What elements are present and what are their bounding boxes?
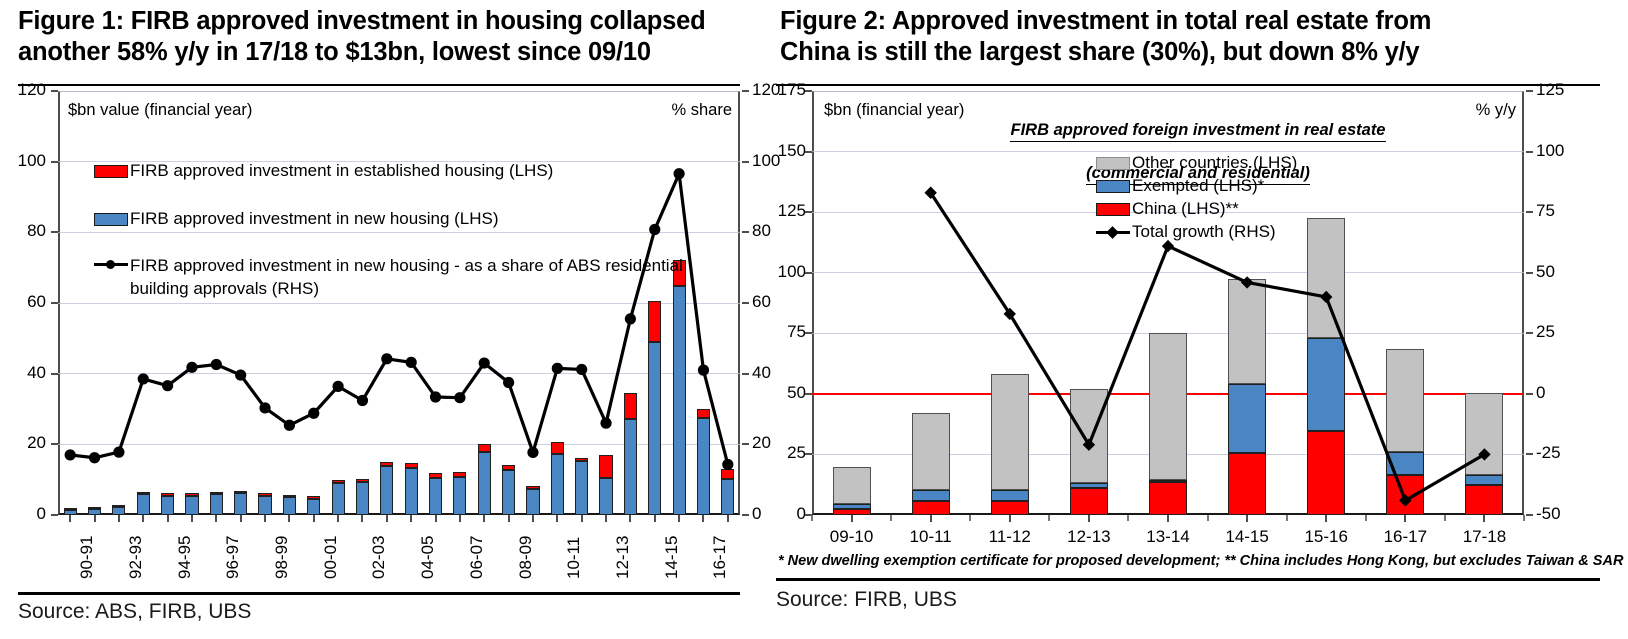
x-axis-label: 12-13 [1049, 527, 1129, 547]
y-tick-label-left: 0 [768, 504, 806, 524]
x-tick-mark [69, 515, 71, 522]
y-tick-label-left: 75 [768, 322, 806, 342]
y-tick-mark-right [742, 514, 749, 516]
figure-2-title: Figure 2: Approved investment in total r… [780, 6, 1610, 68]
x-tick-mark [508, 515, 510, 522]
figure-1-legend-item-0: FIRB approved investment in established … [94, 161, 553, 181]
y-tick-mark-left [51, 231, 58, 233]
figure-1-line-series [58, 91, 740, 515]
y-tick-mark-right [742, 161, 749, 163]
y-tick-mark-right [1526, 151, 1533, 153]
figure-1-legend-item-1: FIRB approved investment in new housing … [94, 209, 499, 229]
y-tick-label-right: 50 [1536, 262, 1555, 282]
x-axis-label: 09-10 [812, 527, 892, 547]
x-tick-mark [264, 515, 266, 522]
x-axis-label: 96-97 [223, 536, 243, 579]
x-tick-mark [483, 515, 485, 522]
x-tick-mark [605, 515, 607, 522]
y-tick-mark-left [805, 453, 812, 455]
x-axis-label: 00-01 [321, 536, 341, 579]
figure-1-source-rule [18, 592, 740, 595]
y-tick-mark-right [742, 302, 749, 304]
x-tick-mark [240, 515, 242, 522]
figure-2-right-axis-note: % y/y [1476, 101, 1516, 120]
figure-2-legend-item-3: Total growth (RHS) [1096, 222, 1276, 242]
y-tick-mark-left [51, 161, 58, 163]
x-minor-tick-mark [1365, 515, 1367, 521]
y-tick-label-left: 100 [0, 151, 46, 171]
legend-line-new-housing-share-icon [94, 257, 128, 271]
y-tick-mark-left [51, 514, 58, 516]
y-tick-mark-left [51, 90, 58, 92]
x-axis-label: 14-15 [1207, 527, 1287, 547]
x-minor-tick-mark [1444, 515, 1446, 521]
figure-1-legend-item-2: FIRB approved investment in new housing … [94, 254, 683, 300]
figure-2-footnote: * New dwelling exemption certificate for… [778, 553, 1623, 569]
y-tick-label-right: -25 [1536, 443, 1561, 463]
x-axis-label: 94-95 [175, 536, 195, 579]
figure-1-source: Source: ABS, FIRB, UBS [18, 600, 251, 624]
y-tick-label-right: 125 [1536, 80, 1564, 100]
figure-2-source: Source: FIRB, UBS [776, 588, 957, 612]
y-tick-mark-right [1526, 514, 1533, 516]
figure-2-plot: $bn (financial year) % y/y FIRB approved… [812, 91, 1524, 515]
y-tick-mark-right [1526, 332, 1533, 334]
figure-2-legend-item-0: Other countries (LHS) [1096, 153, 1297, 173]
x-tick-mark [337, 515, 339, 522]
y-tick-label-right: 25 [1536, 322, 1555, 342]
y-tick-mark-left [805, 332, 812, 334]
y-tick-mark-left [51, 302, 58, 304]
y-tick-label-right: 0 [752, 504, 761, 524]
y-tick-mark-right [742, 373, 749, 375]
x-tick-mark [167, 515, 169, 522]
x-minor-tick-mark [969, 515, 971, 521]
y-tick-mark-left [51, 443, 58, 445]
y-tick-mark-right [1526, 90, 1533, 92]
x-tick-mark [1404, 515, 1406, 522]
y-tick-label-left: 150 [768, 141, 806, 161]
x-axis-label: 10-11 [891, 527, 971, 547]
legend-swatch-other-countries [1096, 157, 1130, 170]
y-tick-label-right: -50 [1536, 504, 1561, 524]
figure-2-legend-label-0: Other countries (LHS) [1132, 153, 1297, 173]
x-tick-mark [361, 515, 363, 522]
y-tick-label-left: 100 [768, 262, 806, 282]
x-tick-mark [1088, 515, 1090, 522]
x-tick-mark [678, 515, 680, 522]
y-tick-mark-left [805, 393, 812, 395]
y-tick-mark-left [805, 272, 812, 274]
x-tick-mark [386, 515, 388, 522]
y-tick-label-left: 40 [0, 363, 46, 383]
figure-1-panel: Figure 1: FIRB approved investment in ho… [0, 0, 768, 639]
y-tick-label-left: 20 [0, 433, 46, 453]
y-tick-mark-right [1526, 453, 1533, 455]
legend-swatch-new-housing [94, 213, 128, 226]
figure-1-legend-label-0: FIRB approved investment in established … [130, 161, 553, 181]
x-axis-label: 04-05 [418, 536, 438, 579]
x-tick-mark [851, 515, 853, 522]
x-axis-label: 98-99 [272, 536, 292, 579]
x-tick-mark [1483, 515, 1485, 522]
x-tick-mark [727, 515, 729, 522]
y-tick-mark-right [1526, 211, 1533, 213]
y-tick-mark-right [1526, 393, 1533, 395]
legend-swatch-china [1096, 203, 1130, 216]
x-axis-label: 92-93 [126, 536, 146, 579]
y-tick-label-left: 175 [768, 80, 806, 100]
figure-2-source-rule [776, 578, 1600, 581]
x-tick-mark [654, 515, 656, 522]
figure-1-plot: $bn value (financial year) % share FIRB … [58, 91, 740, 515]
x-minor-tick-mark [1523, 515, 1525, 521]
x-minor-tick-mark [811, 515, 813, 521]
y-tick-mark-left [805, 211, 812, 213]
y-tick-label-left: 50 [768, 383, 806, 403]
y-tick-mark-right [742, 443, 749, 445]
figure-2-legend-item-2: China (LHS)** [1096, 199, 1239, 219]
y-tick-label-left: 0 [0, 504, 46, 524]
x-minor-tick-mark [1127, 515, 1129, 521]
x-tick-mark [215, 515, 217, 522]
x-tick-mark [1009, 515, 1011, 522]
x-axis-label: 16-17 [710, 536, 730, 579]
figure-1-legend-label-2: FIRB approved investment in new housing … [130, 254, 683, 300]
x-tick-mark [532, 515, 534, 522]
legend-swatch-exempted [1096, 180, 1130, 193]
x-tick-mark [629, 515, 631, 522]
legend-line-total-growth-icon [1096, 225, 1130, 239]
x-axis-label: 02-03 [369, 536, 389, 579]
figure-2-left-axis-note: $bn (financial year) [824, 101, 964, 120]
y-tick-label-left: 80 [0, 221, 46, 241]
figure-2-box-title-line1: FIRB approved foreign investment in real… [1010, 120, 1385, 142]
figure-1-title: Figure 1: FIRB approved investment in ho… [18, 6, 758, 68]
x-tick-mark [313, 515, 315, 522]
x-axis-label: 11-12 [970, 527, 1050, 547]
x-tick-mark [459, 515, 461, 522]
y-tick-label-right: 0 [1536, 383, 1545, 403]
x-minor-tick-mark [1207, 515, 1209, 521]
figure-1-right-axis-note: % share [671, 101, 732, 120]
y-tick-label-left: 25 [768, 443, 806, 463]
y-tick-mark-right [742, 231, 749, 233]
x-minor-tick-mark [890, 515, 892, 521]
x-minor-tick-mark [1286, 515, 1288, 521]
figure-2-legend-item-1: Exempted (LHS)* [1096, 176, 1264, 196]
x-tick-mark [118, 515, 120, 522]
x-axis-label: 10-11 [564, 537, 584, 579]
figure-1-left-axis-note: $bn value (financial year) [68, 101, 252, 120]
x-tick-mark [1246, 515, 1248, 522]
x-tick-mark [581, 515, 583, 522]
figure-2-title-rule [776, 84, 1600, 86]
y-tick-mark-right [742, 90, 749, 92]
x-axis-label: 14-15 [662, 536, 682, 579]
y-tick-label-right: 100 [1536, 141, 1564, 161]
x-axis-label: 90-91 [77, 536, 97, 579]
x-tick-mark [1167, 515, 1169, 522]
legend-swatch-established-housing [94, 165, 128, 178]
y-tick-label-left: 125 [768, 201, 806, 221]
y-tick-label-left: 120 [0, 80, 46, 100]
x-axis-label: 16-17 [1365, 527, 1445, 547]
x-tick-mark [410, 515, 412, 522]
x-tick-mark [1325, 515, 1327, 522]
x-minor-tick-mark [1048, 515, 1050, 521]
x-axis-label: 12-13 [613, 536, 633, 579]
y-tick-label-right: 75 [1536, 201, 1555, 221]
x-axis-label: 17-18 [1444, 527, 1524, 547]
x-axis-label: 08-09 [516, 536, 536, 579]
figure-1-title-rule [18, 84, 740, 86]
figures-page: Figure 1: FIRB approved investment in ho… [0, 0, 1628, 639]
x-tick-mark [702, 515, 704, 522]
x-axis-label: 06-07 [467, 536, 487, 579]
y-tick-label-left: 60 [0, 292, 46, 312]
figure-2-legend-label-3: Total growth (RHS) [1132, 222, 1276, 242]
figure-1-legend-label-1: FIRB approved investment in new housing … [130, 209, 499, 229]
y-tick-mark-left [805, 151, 812, 153]
x-tick-mark [930, 515, 932, 522]
x-tick-mark [94, 515, 96, 522]
y-tick-mark-left [51, 373, 58, 375]
x-tick-mark [288, 515, 290, 522]
y-tick-mark-right [1526, 272, 1533, 274]
x-axis-label: 13-14 [1128, 527, 1208, 547]
x-axis-label: 15-16 [1286, 527, 1366, 547]
y-tick-mark-left [805, 90, 812, 92]
x-tick-mark [191, 515, 193, 522]
figure-2-panel: Figure 2: Approved investment in total r… [768, 0, 1628, 639]
x-tick-mark [556, 515, 558, 522]
figure-2-legend-label-2: China (LHS)** [1132, 199, 1239, 219]
x-tick-mark [142, 515, 144, 522]
figure-2-legend-label-1: Exempted (LHS)* [1132, 176, 1264, 196]
x-tick-mark [435, 515, 437, 522]
